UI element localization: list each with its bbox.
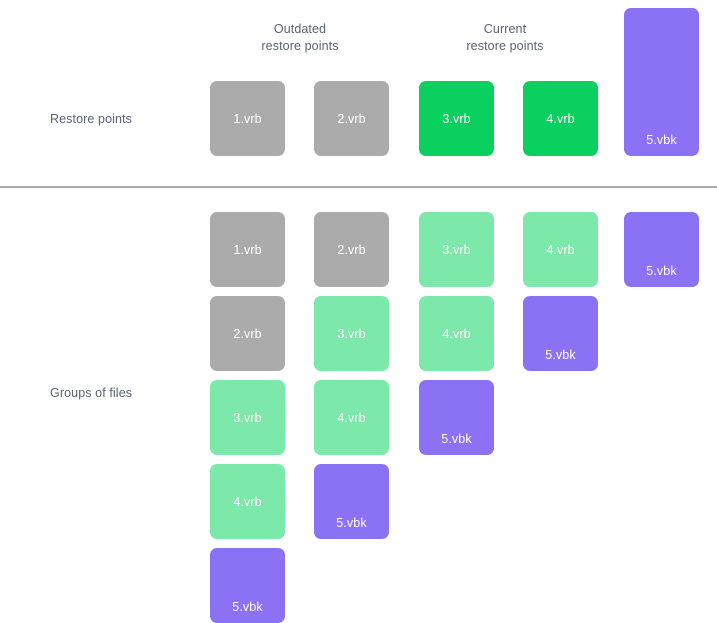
restore-point-tile-3-vrb[interactable]: 3.vrb (419, 81, 494, 156)
group-2-file-5-vbk[interactable]: 5.vbk (314, 464, 389, 539)
group-2-file-2-vrb[interactable]: 2.vrb (314, 212, 389, 287)
caption-outdated-restore-points: Outdated restore points (252, 21, 348, 55)
group-3-file-3-vrb[interactable]: 3.vrb (419, 212, 494, 287)
tile-label: 4.vrb (523, 112, 598, 126)
tile-label: 5.vbk (210, 600, 285, 614)
tile-label: 3.vrb (419, 112, 494, 126)
group-3-file-5-vbk[interactable]: 5.vbk (419, 380, 494, 455)
tile-label: 2.vrb (314, 112, 389, 126)
restore-point-tile-5-vbk[interactable]: 5.vbk (624, 8, 699, 156)
section-label-groups-of-files: Groups of files (50, 385, 132, 402)
restore-point-tile-1-vrb[interactable]: 1.vrb (210, 81, 285, 156)
group-1-file-4-vrb[interactable]: 4.vrb (210, 464, 285, 539)
tile-label: 3.vrb (419, 243, 494, 257)
group-1-file-2-vrb[interactable]: 2.vrb (210, 296, 285, 371)
tile-label: 5.vbk (624, 133, 699, 147)
tile-label: 2.vrb (314, 243, 389, 257)
group-1-file-3-vrb[interactable]: 3.vrb (210, 380, 285, 455)
group-3-file-4-vrb[interactable]: 4.vrb (419, 296, 494, 371)
tile-label: 3.vrb (314, 327, 389, 341)
tile-label: 5.vbk (523, 348, 598, 362)
group-4-file-4-vrb[interactable]: 4.vrb (523, 212, 598, 287)
group-1-file-5-vbk[interactable]: 5.vbk (210, 548, 285, 623)
tile-label: 3.vrb (210, 411, 285, 425)
group-4-file-5-vbk[interactable]: 5.vbk (523, 296, 598, 371)
tile-label: 5.vbk (419, 432, 494, 446)
group-5-file-5-vbk[interactable]: 5.vbk (624, 212, 699, 287)
backup-chain-diagram: Outdated restore points Current restore … (0, 0, 717, 621)
group-2-file-3-vrb[interactable]: 3.vrb (314, 296, 389, 371)
tile-label: 4.vrb (419, 327, 494, 341)
group-1-file-1-vrb[interactable]: 1.vrb (210, 212, 285, 287)
group-2-file-4-vrb[interactable]: 4.vrb (314, 380, 389, 455)
tile-label: 5.vbk (624, 264, 699, 278)
caption-current-restore-points: Current restore points (457, 21, 553, 55)
restore-point-tile-4-vrb[interactable]: 4.vrb (523, 81, 598, 156)
tile-label: 1.vrb (210, 243, 285, 257)
tile-label: 4.vrb (210, 495, 285, 509)
tile-label: 5.vbk (314, 516, 389, 530)
section-divider (0, 186, 717, 188)
tile-label: 4.vrb (314, 411, 389, 425)
restore-point-tile-2-vrb[interactable]: 2.vrb (314, 81, 389, 156)
tile-label: 2.vrb (210, 327, 285, 341)
tile-label: 1.vrb (210, 112, 285, 126)
tile-label: 4.vrb (523, 243, 598, 257)
section-label-restore-points: Restore points (50, 111, 132, 128)
